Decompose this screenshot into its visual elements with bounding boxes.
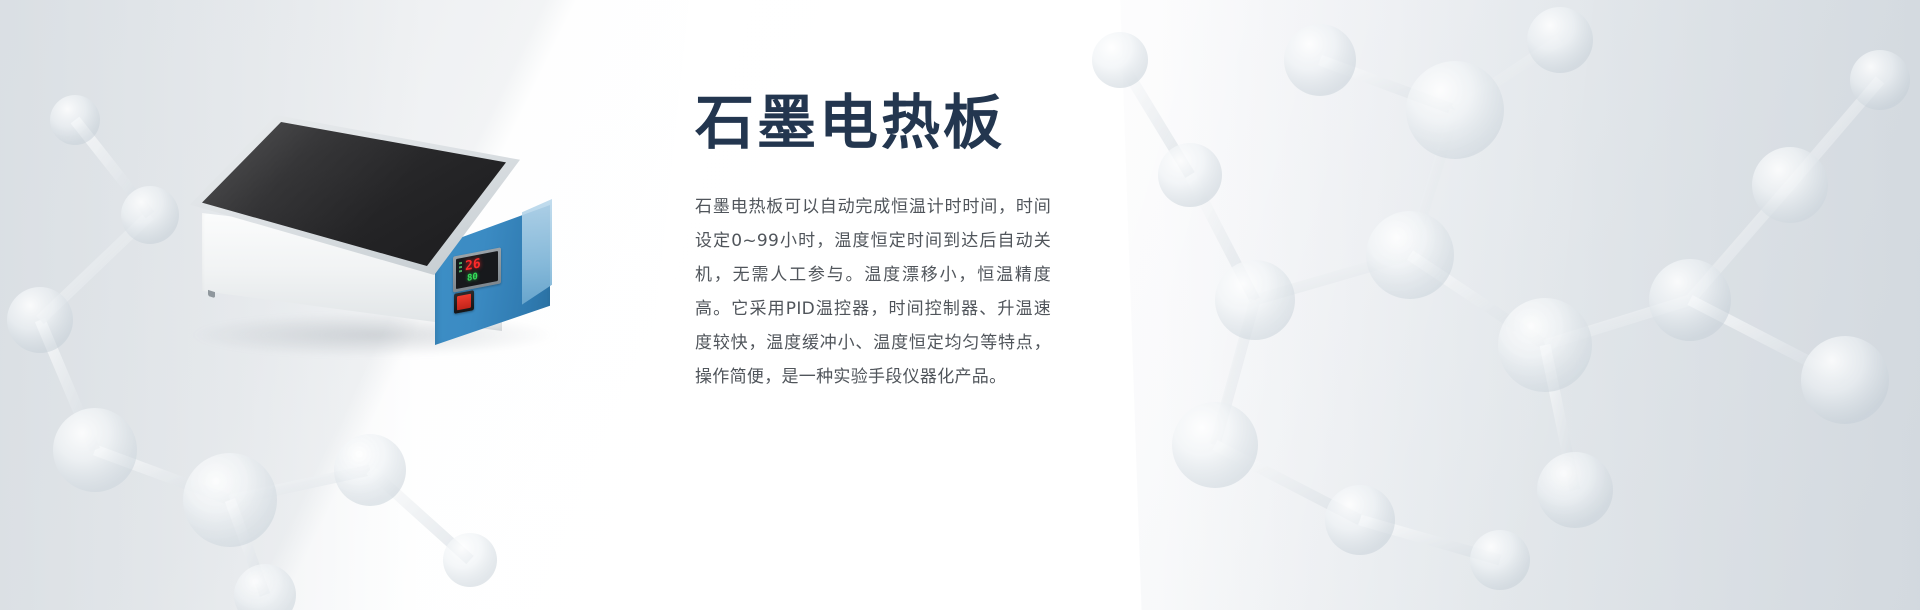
product-hero-banner: 26 80 石墨电热板 石墨电热板可以自动完成恒温计时时间，时间设定0~99小时… — [0, 0, 1920, 610]
product-image-graphite-hot-plate: 26 80 — [150, 95, 630, 395]
pid-secondary-value: 80 — [467, 273, 478, 284]
background-vignette-right — [1160, 0, 1920, 610]
pid-primary-value: 26 — [465, 257, 481, 273]
page-title: 石墨电热板 — [695, 92, 1065, 154]
product-description: 石墨电热板可以自动完成恒温计时时间，时间设定0~99小时，温度恒定时间到达后自动… — [695, 190, 1051, 394]
pid-indicator-lights — [459, 262, 463, 273]
power-switch-button[interactable] — [454, 290, 474, 314]
product-foot — [208, 290, 215, 298]
pid-screen: 26 80 — [456, 251, 498, 289]
banner-copy: 石墨电热板 石墨电热板可以自动完成恒温计时时间，时间设定0~99小时，温度恒定时… — [695, 92, 1065, 394]
power-switch-rocker — [457, 294, 471, 311]
